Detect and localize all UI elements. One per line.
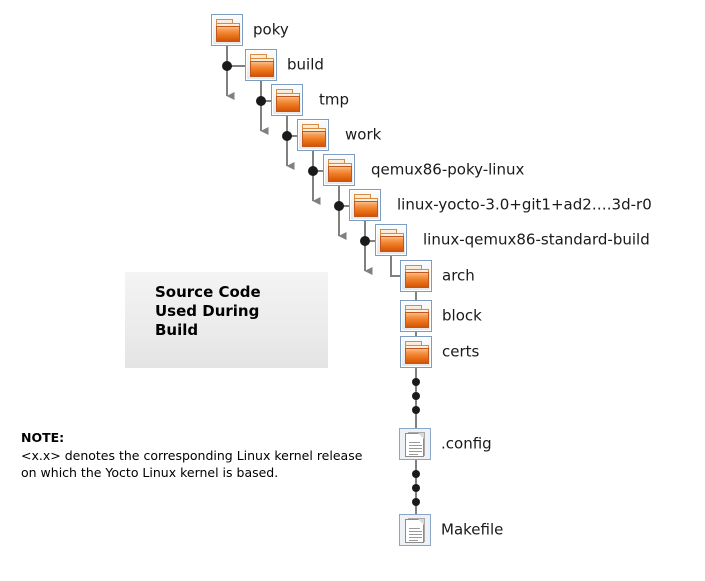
connector-lines: [0, 0, 705, 581]
note-block: NOTE: <x.x> denotes the corresponding Li…: [21, 430, 381, 481]
source-code-callout-box: Source Code Used During Build: [125, 272, 328, 368]
diagram-canvas: poky build tmp work qemux86-poky-linux l…: [0, 0, 705, 581]
node-label: qemux86-poky-linux: [371, 163, 524, 178]
folder-icon: [400, 336, 432, 368]
folder-icon: [375, 224, 407, 256]
tree-node-qemux86-poky-linux[interactable]: qemux86-poky-linux: [323, 154, 355, 186]
note-title: NOTE:: [21, 430, 381, 446]
node-label: .config: [441, 437, 492, 452]
node-label: work: [345, 128, 381, 143]
tree-node-config[interactable]: .config: [399, 428, 431, 460]
node-label: certs: [442, 345, 479, 360]
folder-icon: [245, 49, 277, 81]
tree-node-poky[interactable]: poky: [211, 14, 243, 46]
tree-node-certs[interactable]: certs: [400, 336, 432, 368]
node-label: arch: [442, 269, 475, 284]
note-body: <x.x> denotes the corresponding Linux ke…: [21, 447, 381, 481]
document-icon: [399, 428, 431, 460]
tree-node-block[interactable]: block: [400, 300, 432, 332]
node-label: block: [442, 309, 482, 324]
folder-icon: [271, 84, 303, 116]
node-label: tmp: [319, 93, 349, 108]
folder-icon: [211, 14, 243, 46]
tree-node-standard-build[interactable]: linux-qemux86-standard-build: [375, 224, 407, 256]
document-icon: [399, 514, 431, 546]
node-label: Makefile: [441, 523, 503, 538]
node-label: build: [287, 58, 324, 73]
tree-node-arch[interactable]: arch: [400, 260, 432, 292]
tree-node-work[interactable]: work: [297, 119, 329, 151]
node-label: linux-qemux86-standard-build: [423, 233, 650, 248]
tree-node-linux-yocto[interactable]: linux-yocto-3.0+git1+ad2….3d-r0: [349, 189, 381, 221]
folder-icon: [400, 260, 432, 292]
tree-node-build[interactable]: build: [245, 49, 277, 81]
node-label: linux-yocto-3.0+git1+ad2….3d-r0: [397, 198, 652, 213]
folder-icon: [349, 189, 381, 221]
node-label: poky: [253, 23, 289, 38]
folder-icon: [297, 119, 329, 151]
tree-node-makefile[interactable]: Makefile: [399, 514, 431, 546]
folder-icon: [323, 154, 355, 186]
callout-text: Source Code Used During Build: [155, 283, 261, 340]
tree-node-tmp[interactable]: tmp: [271, 84, 303, 116]
folder-icon: [400, 300, 432, 332]
